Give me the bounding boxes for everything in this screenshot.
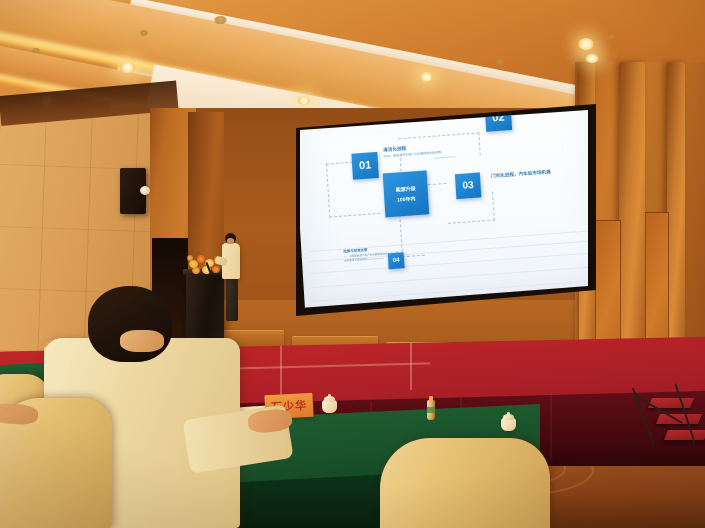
downlight-icon — [495, 58, 505, 65]
downlight-icon — [585, 54, 599, 63]
flower — [187, 255, 193, 261]
stage-step — [664, 430, 705, 440]
downlight-icon — [578, 38, 594, 50]
downlight-icon — [608, 34, 615, 39]
slide-center-line1: 能源升级 — [395, 185, 415, 193]
slide-step-01-badge: 01 — [351, 152, 379, 180]
downlight-icon — [214, 16, 227, 24]
slide-center-box: 能源升级 100年内 — [383, 170, 430, 217]
presenter-face — [227, 238, 234, 244]
downlight-icon — [120, 62, 135, 73]
seated-man-neck — [120, 330, 164, 352]
stage-stairs — [636, 392, 705, 462]
empty-chair-center — [380, 438, 550, 528]
flower — [197, 255, 205, 263]
teacup — [322, 400, 337, 413]
presenter-legs — [226, 277, 238, 321]
teacup — [501, 418, 516, 431]
bottle-label — [427, 407, 435, 413]
water-bottle — [427, 400, 435, 420]
slide-connector — [399, 213, 425, 258]
slide-step-03-title: 门市化进程，汽车后市场机遇 — [491, 169, 551, 179]
stage-seam — [410, 340, 412, 390]
slide-step-03-caption: 门市化进程，汽车后市场机遇 — [491, 169, 551, 180]
slide-step-03-badge: 03 — [455, 172, 482, 199]
slide-center-line2: 100年内 — [397, 195, 416, 203]
downlight-icon — [140, 30, 148, 36]
downlight-icon — [420, 72, 433, 82]
stage-seam — [280, 344, 282, 396]
flower — [192, 267, 200, 274]
conference-hall-photo: CIDC 中国国家电力大会 01 清洁化进程 2015、新能源汽车推广与应用财政… — [0, 0, 705, 528]
projection-screen: CIDC 中国国家电力大会 01 清洁化进程 2015、新能源汽车推广与应用财政… — [300, 108, 588, 308]
downlight-icon — [32, 48, 40, 53]
downlight-icon — [298, 96, 310, 105]
flower — [212, 266, 220, 273]
ceiling-camera-icon — [140, 186, 150, 195]
skirt-fold — [550, 394, 552, 460]
presentation-slide: CIDC 中国国家电力大会 01 清洁化进程 2015、新能源汽车推广与应用财政… — [300, 108, 588, 308]
speaker-podium — [186, 272, 224, 338]
